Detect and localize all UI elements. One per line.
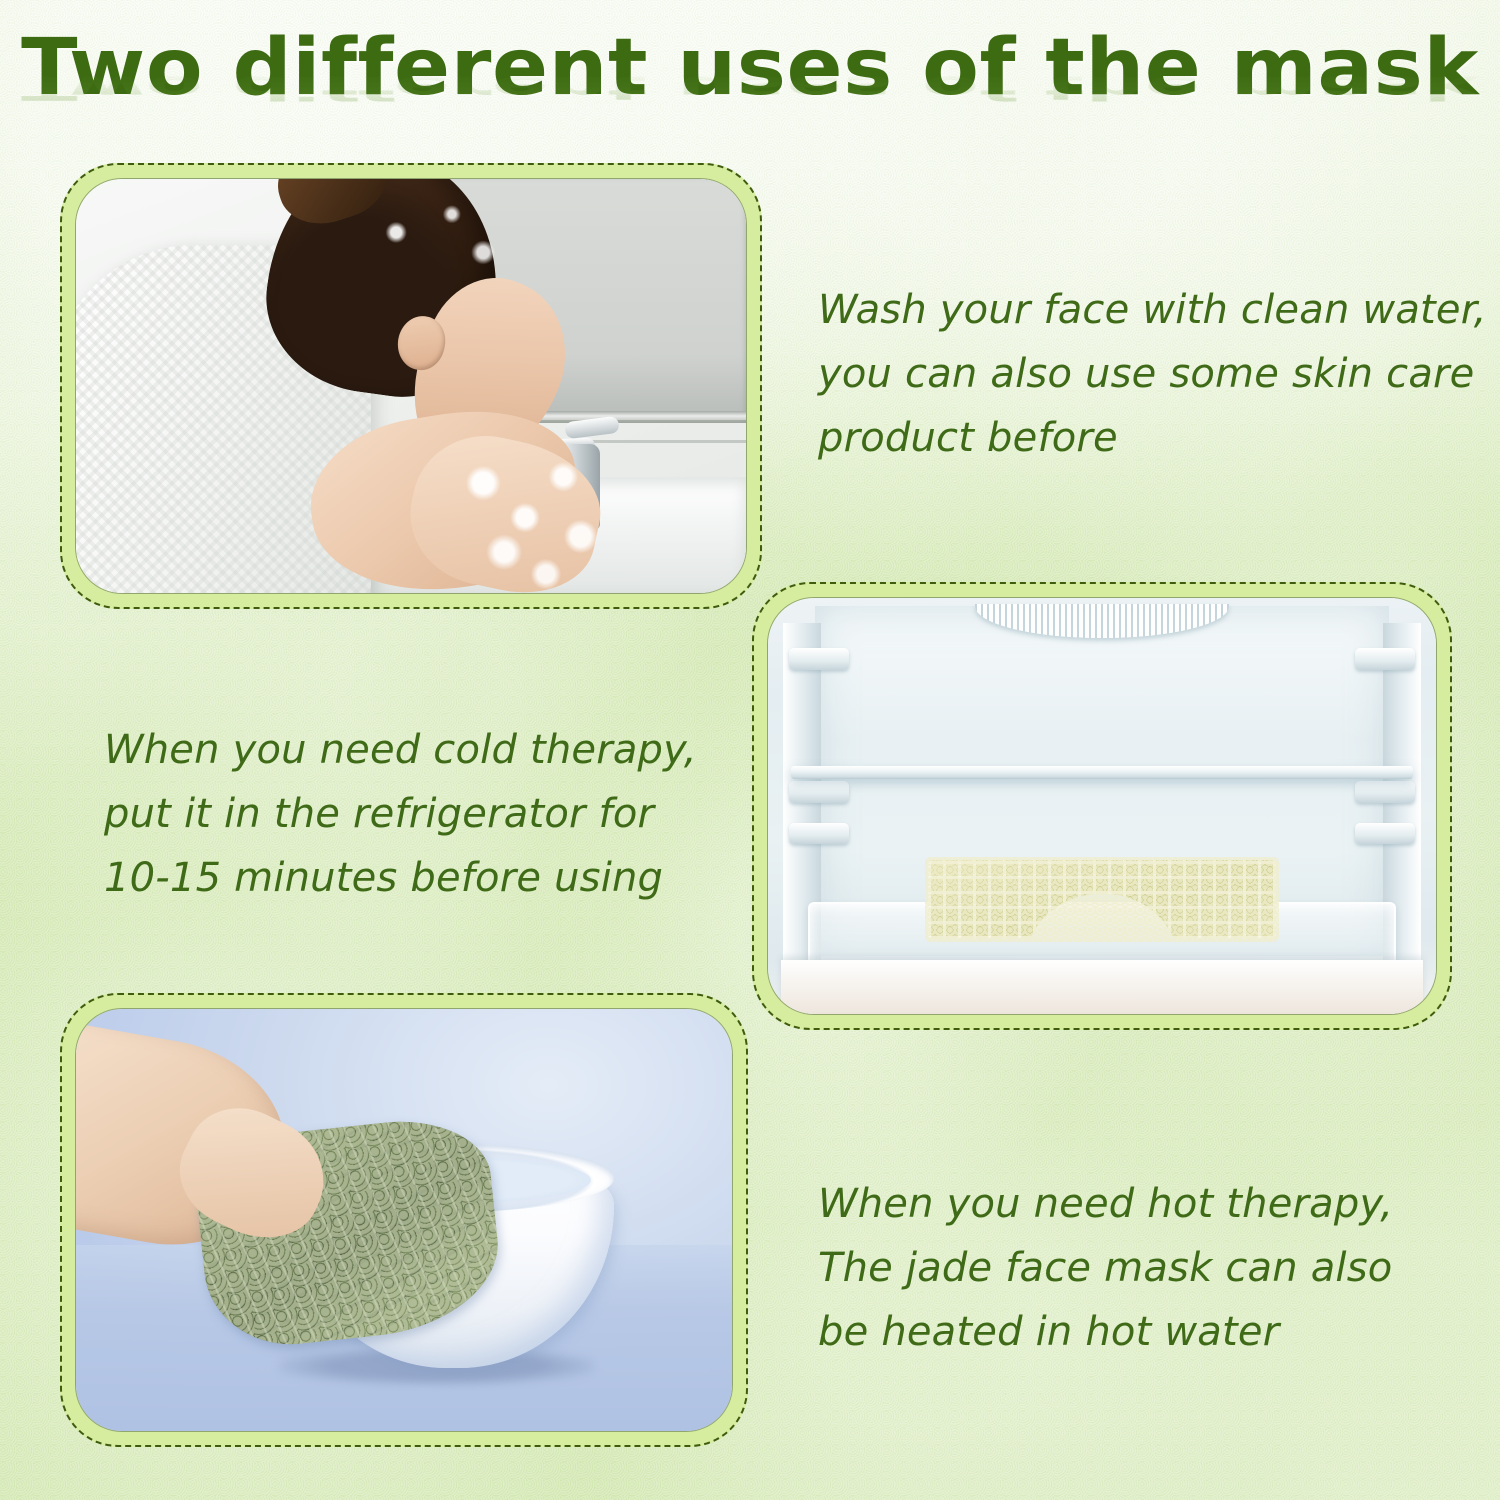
caption-cold-therapy: When you need cold therapy, put it in th… <box>104 718 697 910</box>
caption-hot-therapy: When you need hot therapy, The jade face… <box>818 1172 1393 1364</box>
jade-tile-grid <box>928 860 1275 939</box>
water-droplets <box>344 196 518 287</box>
page-title-block: Two different uses of the mask Two diffe… <box>0 24 1500 194</box>
caption-line: product before <box>818 406 1487 470</box>
shelf-clip <box>1355 648 1415 670</box>
photo-frame-hot-water <box>60 993 748 1447</box>
refrigerator-shelf-upper <box>791 766 1412 779</box>
caption-line: When you need hot therapy, <box>818 1172 1393 1236</box>
caption-line: When you need cold therapy, <box>104 718 697 782</box>
caption-line: Wash your face with clean water, <box>818 278 1487 342</box>
shelf-clip <box>789 648 849 670</box>
caption-line: put it in the refrigerator for <box>104 782 697 846</box>
woman-washing-face-photo <box>76 179 746 593</box>
caption-line: The jade face mask can also <box>818 1236 1393 1300</box>
page-title-reflection: Two different uses of the mask <box>0 69 1500 106</box>
refrigerator-with-jade-mask-photo <box>768 598 1436 1014</box>
shelf-clip <box>1355 823 1415 845</box>
shelf-clip <box>1355 781 1415 803</box>
photo-frame-wash-face <box>60 163 762 609</box>
jade-face-mask-in-fridge <box>928 860 1275 939</box>
promo-infographic: Two different uses of the mask Two diffe… <box>0 0 1500 1500</box>
caption-line: you can also use some skin care <box>818 342 1487 406</box>
refrigerator-base <box>781 960 1422 1014</box>
photo-frame-refrigerator <box>752 582 1452 1030</box>
caption-line: be heated in hot water <box>818 1300 1393 1364</box>
shelf-clip <box>789 781 849 803</box>
caption-line: 10-15 minutes before using <box>104 846 697 910</box>
caption-wash-face: Wash your face with clean water, you can… <box>818 278 1487 470</box>
shelf-clip <box>789 823 849 845</box>
water-splash <box>445 436 619 593</box>
hand-dipping-jade-mask-in-bowl-photo <box>76 1009 732 1431</box>
